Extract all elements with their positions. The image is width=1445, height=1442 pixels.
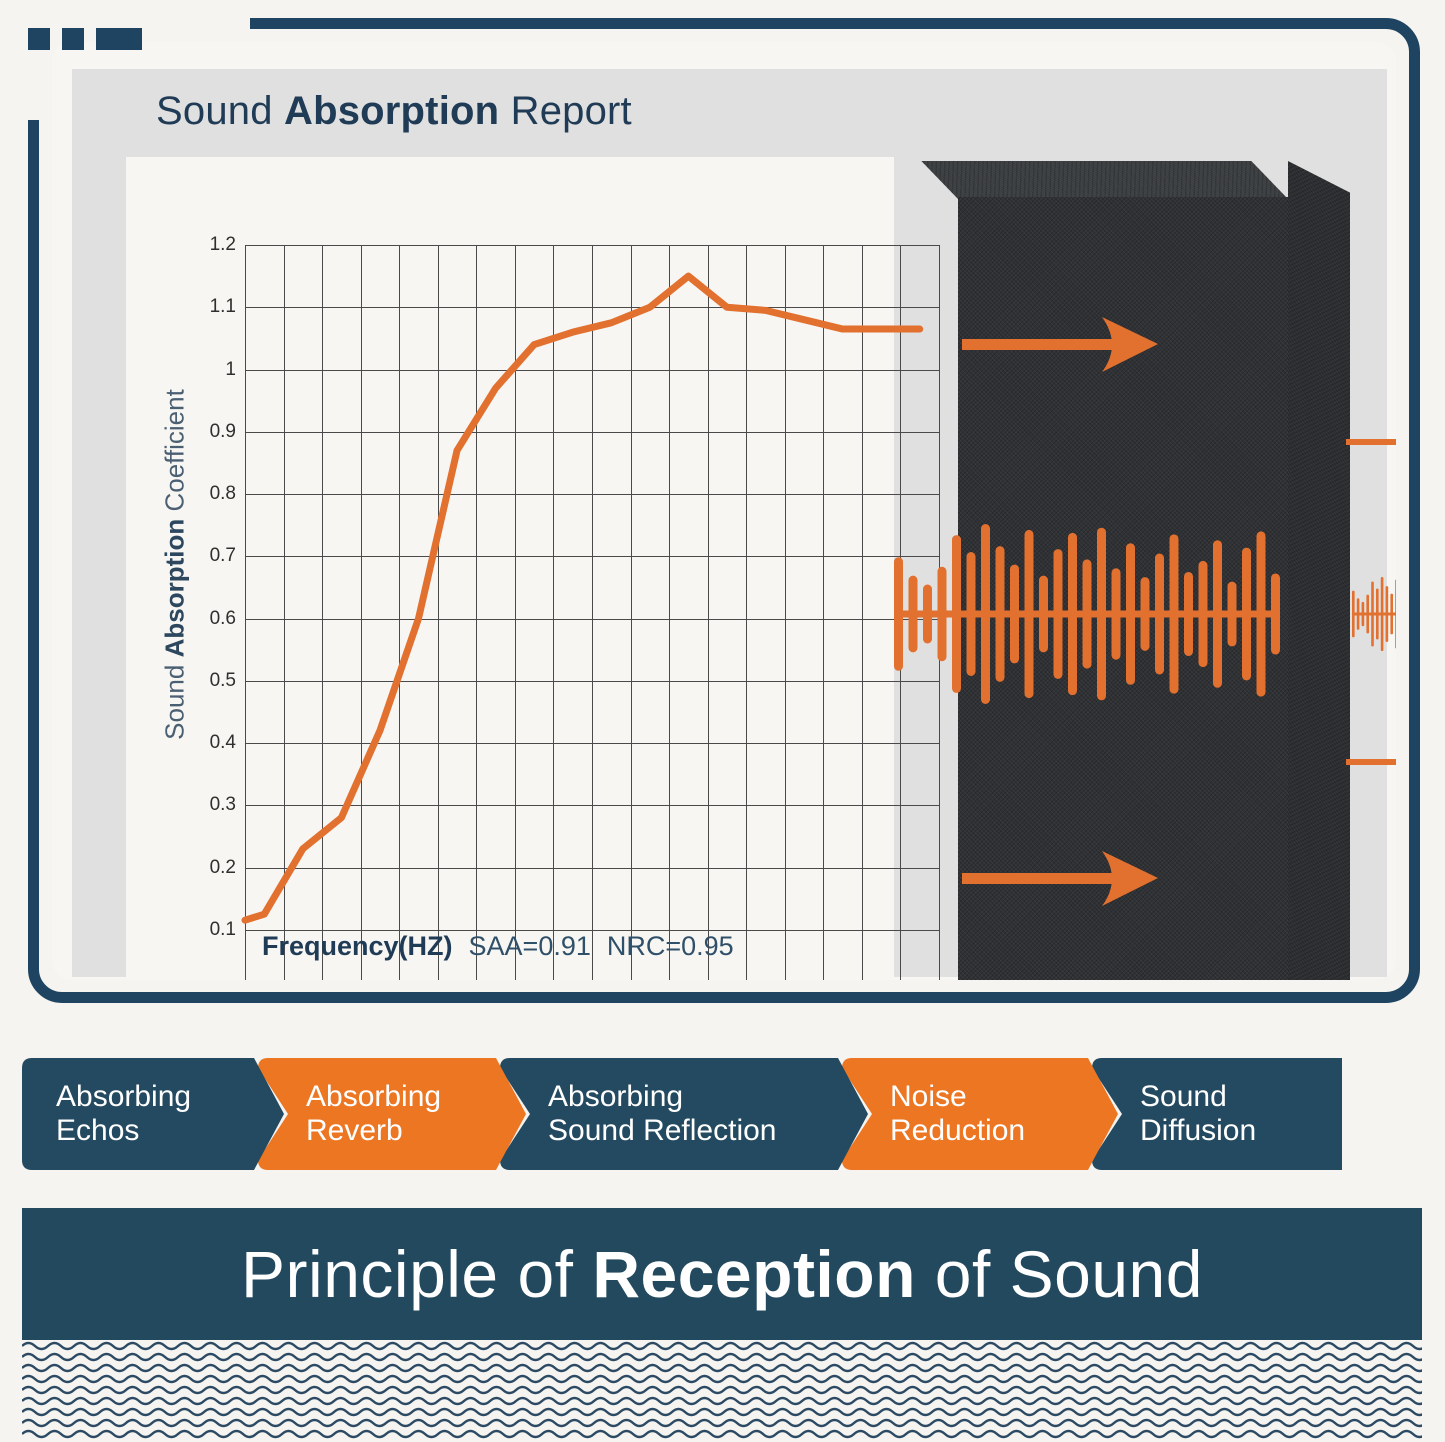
feature-badge[interactable]: Absorbing Sound Reflection xyxy=(500,1058,868,1170)
y-tick-label: 0.1 xyxy=(210,919,236,941)
y-tick-label: 0.3 xyxy=(210,794,236,816)
y-tick-label: 1.2 xyxy=(210,234,236,256)
badge-label: Absorbing Sound Reflection xyxy=(534,1080,777,1147)
feature-ribbon: Absorbing EchosAbsorbing ReverbAbsorbing… xyxy=(22,1058,1422,1170)
window-dot-icon xyxy=(28,28,50,50)
window-dot-icon xyxy=(62,28,84,50)
incoming-sound-arrow-icon xyxy=(962,849,1162,909)
bottom-banner: Principle of Reception of Sound xyxy=(22,1208,1422,1340)
badge-label: Absorbing Reverb xyxy=(292,1080,441,1147)
foam-panel-top-face xyxy=(921,161,1288,199)
sound-waveform-small-icon xyxy=(1352,559,1396,669)
y-tick-label: 0.5 xyxy=(210,670,236,692)
y-tick-label: 0.9 xyxy=(210,421,236,443)
y-axis-label: Sound Absorption Coefficient xyxy=(160,330,191,800)
feature-badge[interactable]: Noise Reduction xyxy=(842,1058,1118,1170)
report-card: Sound Absorption Report Sound Absorption… xyxy=(52,42,1396,980)
chart-panel: Sound Absorption Report Sound Absorption… xyxy=(72,69,1387,977)
y-tick-label: 0.6 xyxy=(210,608,236,630)
feature-badge[interactable]: Absorbing Echos xyxy=(22,1058,284,1170)
nrc-value: NRC=0.95 xyxy=(607,931,734,961)
y-tick-label: 0.8 xyxy=(210,483,236,505)
badge-label: Noise Reduction xyxy=(876,1080,1025,1147)
sound-waveform-large-icon xyxy=(894,519,1294,709)
acoustic-foam-illustration xyxy=(900,79,1396,980)
chart-plot-area: 00.10.20.30.40.50.60.70.80.911.11.2 1001… xyxy=(245,245,939,980)
wave-texture-strip xyxy=(22,1340,1422,1442)
y-label-bold: Absorption xyxy=(160,519,190,658)
banner-title: Principle of Reception of Sound xyxy=(241,1236,1203,1312)
y-tick-label: 1 xyxy=(225,359,236,381)
title-bold: Absorption xyxy=(284,89,499,133)
absorption-curve xyxy=(245,276,920,920)
incoming-sound-arrow-icon xyxy=(962,315,1162,375)
chart-footer: Frequency(HZ)SAA=0.91NRC=0.95 xyxy=(262,931,734,962)
x-axis-label: Frequency(HZ) xyxy=(262,931,453,961)
feature-badge[interactable]: Absorbing Reverb xyxy=(258,1058,526,1170)
saa-value: SAA=0.91 xyxy=(469,931,591,961)
y-label-suffix: Coefficient xyxy=(160,389,190,519)
y-tick-label: 0.2 xyxy=(210,857,236,879)
y-tick-label: 1.1 xyxy=(210,296,236,318)
banner-bold: Reception xyxy=(592,1237,916,1311)
badge-label: Absorbing Echos xyxy=(56,1080,191,1147)
outgoing-sound-arrow-icon xyxy=(1346,419,1396,465)
y-tick-label: 0.7 xyxy=(210,545,236,567)
banner-suffix: of Sound xyxy=(916,1237,1203,1311)
y-tick-label: 0.4 xyxy=(210,732,236,754)
foam-panel-side-face xyxy=(1288,161,1350,980)
wave-pattern xyxy=(22,1340,1422,1442)
outgoing-sound-arrow-icon xyxy=(1346,739,1396,785)
page-title: Sound Absorption Report xyxy=(156,89,632,134)
plot-background: Sound Absorption Coefficient 00.10.20.30… xyxy=(126,157,894,980)
banner-prefix: Principle of xyxy=(241,1237,592,1311)
window-controls xyxy=(28,28,142,50)
title-prefix: Sound xyxy=(156,89,284,133)
badge-label: Sound Diffusion xyxy=(1126,1080,1256,1147)
feature-badge[interactable]: Sound Diffusion xyxy=(1092,1058,1342,1170)
title-suffix: Report xyxy=(499,89,632,133)
window-bar-icon xyxy=(96,28,142,50)
y-label-prefix: Sound xyxy=(160,657,190,739)
chart-series-line xyxy=(245,245,939,980)
